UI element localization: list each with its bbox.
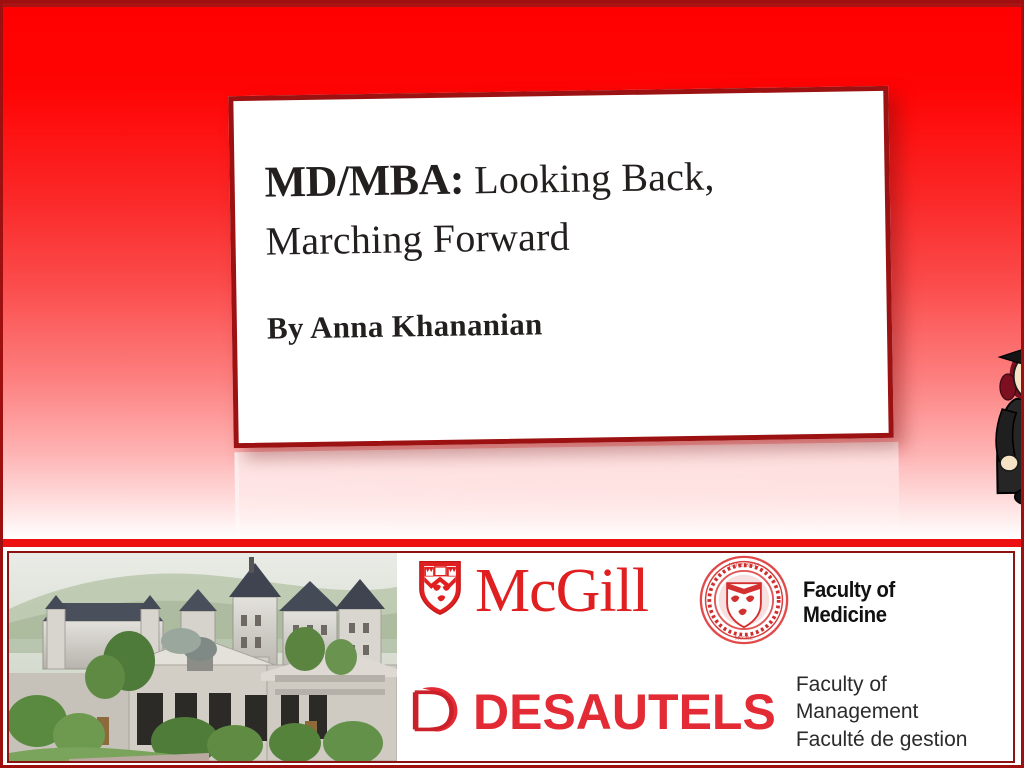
graduate-student-illustration	[979, 336, 1024, 518]
mcgill-logo: McGill	[417, 559, 648, 622]
desautels-logo: DESAUTELS Faculty of Management Faculté …	[409, 671, 1013, 753]
faculty-of-medicine-label: Faculty of Medicine	[803, 578, 895, 627]
title-line-2: Marching Forward	[265, 205, 786, 268]
page-title: MD/MBA: Looking Back, Marching Forward	[264, 144, 786, 268]
mcgill-campus-photo	[9, 553, 397, 761]
presentation-slide: MD/MBA: Looking Back, Marching Forward B…	[0, 0, 1024, 768]
svg-text:UNIVERSITAS: UNIVERSITAS	[729, 563, 760, 568]
title-card-wrapper: MD/MBA: Looking Back, Marching Forward B…	[228, 86, 893, 448]
title-line-1: MD/MBA: Looking Back,	[264, 144, 785, 213]
medicine-line-2: Medicine	[803, 602, 887, 627]
mcgill-wordmark: McGill	[475, 560, 648, 622]
faculty-of-medicine-seal: UNIVERSITAS MCGILL	[699, 555, 789, 650]
institution-banner: McGill U	[7, 551, 1015, 763]
logo-zone: McGill U	[401, 553, 1013, 761]
faculty-of-medicine-logo: UNIVERSITAS MCGILL Faculty of Medicine	[699, 555, 903, 650]
desautels-d-mark	[409, 683, 465, 740]
title-card: MD/MBA: Looking Back, Marching Forward B…	[228, 86, 893, 448]
title-remainder: Looking Back,	[464, 154, 715, 203]
desautels-wordmark: DESAUTELS	[473, 687, 776, 737]
author-byline: By Anna Khananian	[267, 306, 543, 346]
top-accent-line	[3, 3, 1024, 7]
svg-text:MCGILL: MCGILL	[735, 636, 753, 641]
desautels-line-1: Faculty of Management	[796, 673, 919, 723]
title-emphasis: MD/MBA:	[264, 155, 464, 207]
desautels-line-2: Faculté de gestion	[796, 728, 968, 751]
medicine-line-1: Faculty of	[803, 577, 895, 602]
section-divider-bar	[3, 539, 1024, 547]
desautels-faculty-label: Faculty of Management Faculté de gestion	[796, 671, 1013, 753]
mcgill-shield-crest	[417, 559, 463, 622]
